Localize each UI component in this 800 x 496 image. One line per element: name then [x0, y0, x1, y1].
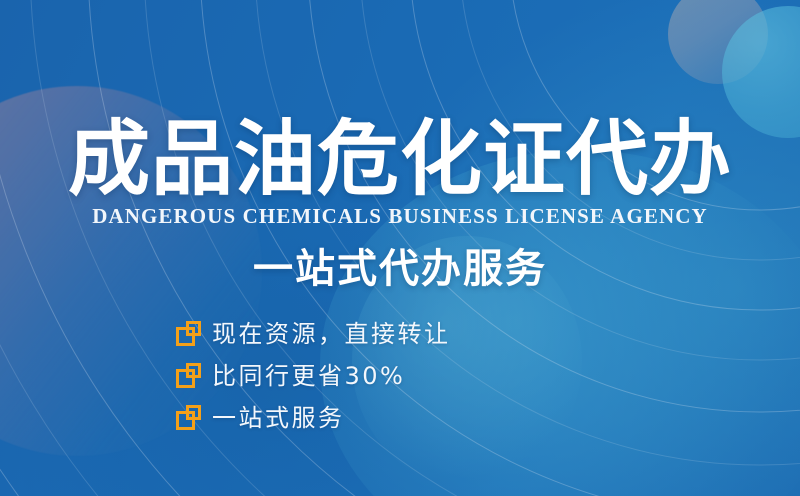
feature-list: 现在资源，直接转让 比同行更省30% 一站式服务 — [176, 316, 606, 442]
overlapping-squares-icon — [176, 321, 201, 346]
feature-label: 一站式服务 — [212, 403, 345, 433]
feature-label: 现在资源，直接转让 — [212, 319, 451, 349]
banner-secondary-title: 一站式代办服务 — [0, 245, 800, 293]
overlapping-squares-icon — [176, 363, 201, 388]
list-item: 现在资源，直接转让 — [176, 316, 606, 351]
banner-english-subtitle: DANGEROUS CHEMICALS BUSINESS LICENSE AGE… — [0, 203, 800, 229]
list-item: 比同行更省30% — [176, 358, 606, 393]
feature-label: 比同行更省30% — [212, 361, 405, 391]
overlapping-squares-icon — [176, 405, 201, 430]
list-item: 一站式服务 — [176, 400, 606, 435]
banner-content: 成品油危化证代办 DANGEROUS CHEMICALS BUSINESS LI… — [0, 0, 800, 496]
banner-main-title: 成品油危化证代办 — [0, 116, 800, 204]
promo-banner: 成品油危化证代办 DANGEROUS CHEMICALS BUSINESS LI… — [0, 0, 800, 496]
